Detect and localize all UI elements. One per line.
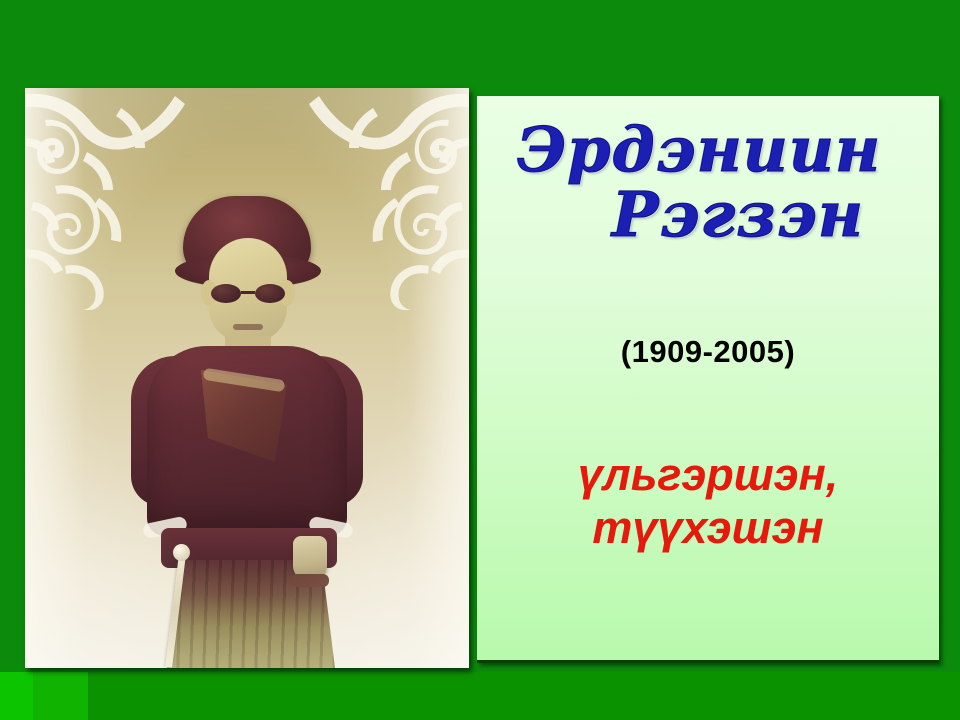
title-block: Эрдэниин Рэгзэн — [477, 118, 939, 246]
subtitle-line-1: үльгэршэн, — [578, 449, 839, 500]
portrait-photograph — [25, 88, 469, 668]
photo-vignette — [25, 88, 469, 668]
life-dates: (1909-2005) — [477, 334, 939, 370]
presentation-slide: Эрдэниин Рэгзэн (1909-2005) үльгэршэн, т… — [0, 0, 960, 720]
title-line-1: Эрдэниин — [477, 118, 939, 181]
title-line-2: Рэгзэн — [477, 183, 939, 246]
text-panel: Эрдэниин Рэгзэн (1909-2005) үльгэршэн, т… — [477, 96, 939, 663]
subtitle-line-2: түүхэшэн — [477, 501, 939, 554]
subtitle-block: үльгэршэн, түүхэшэн — [477, 448, 939, 554]
